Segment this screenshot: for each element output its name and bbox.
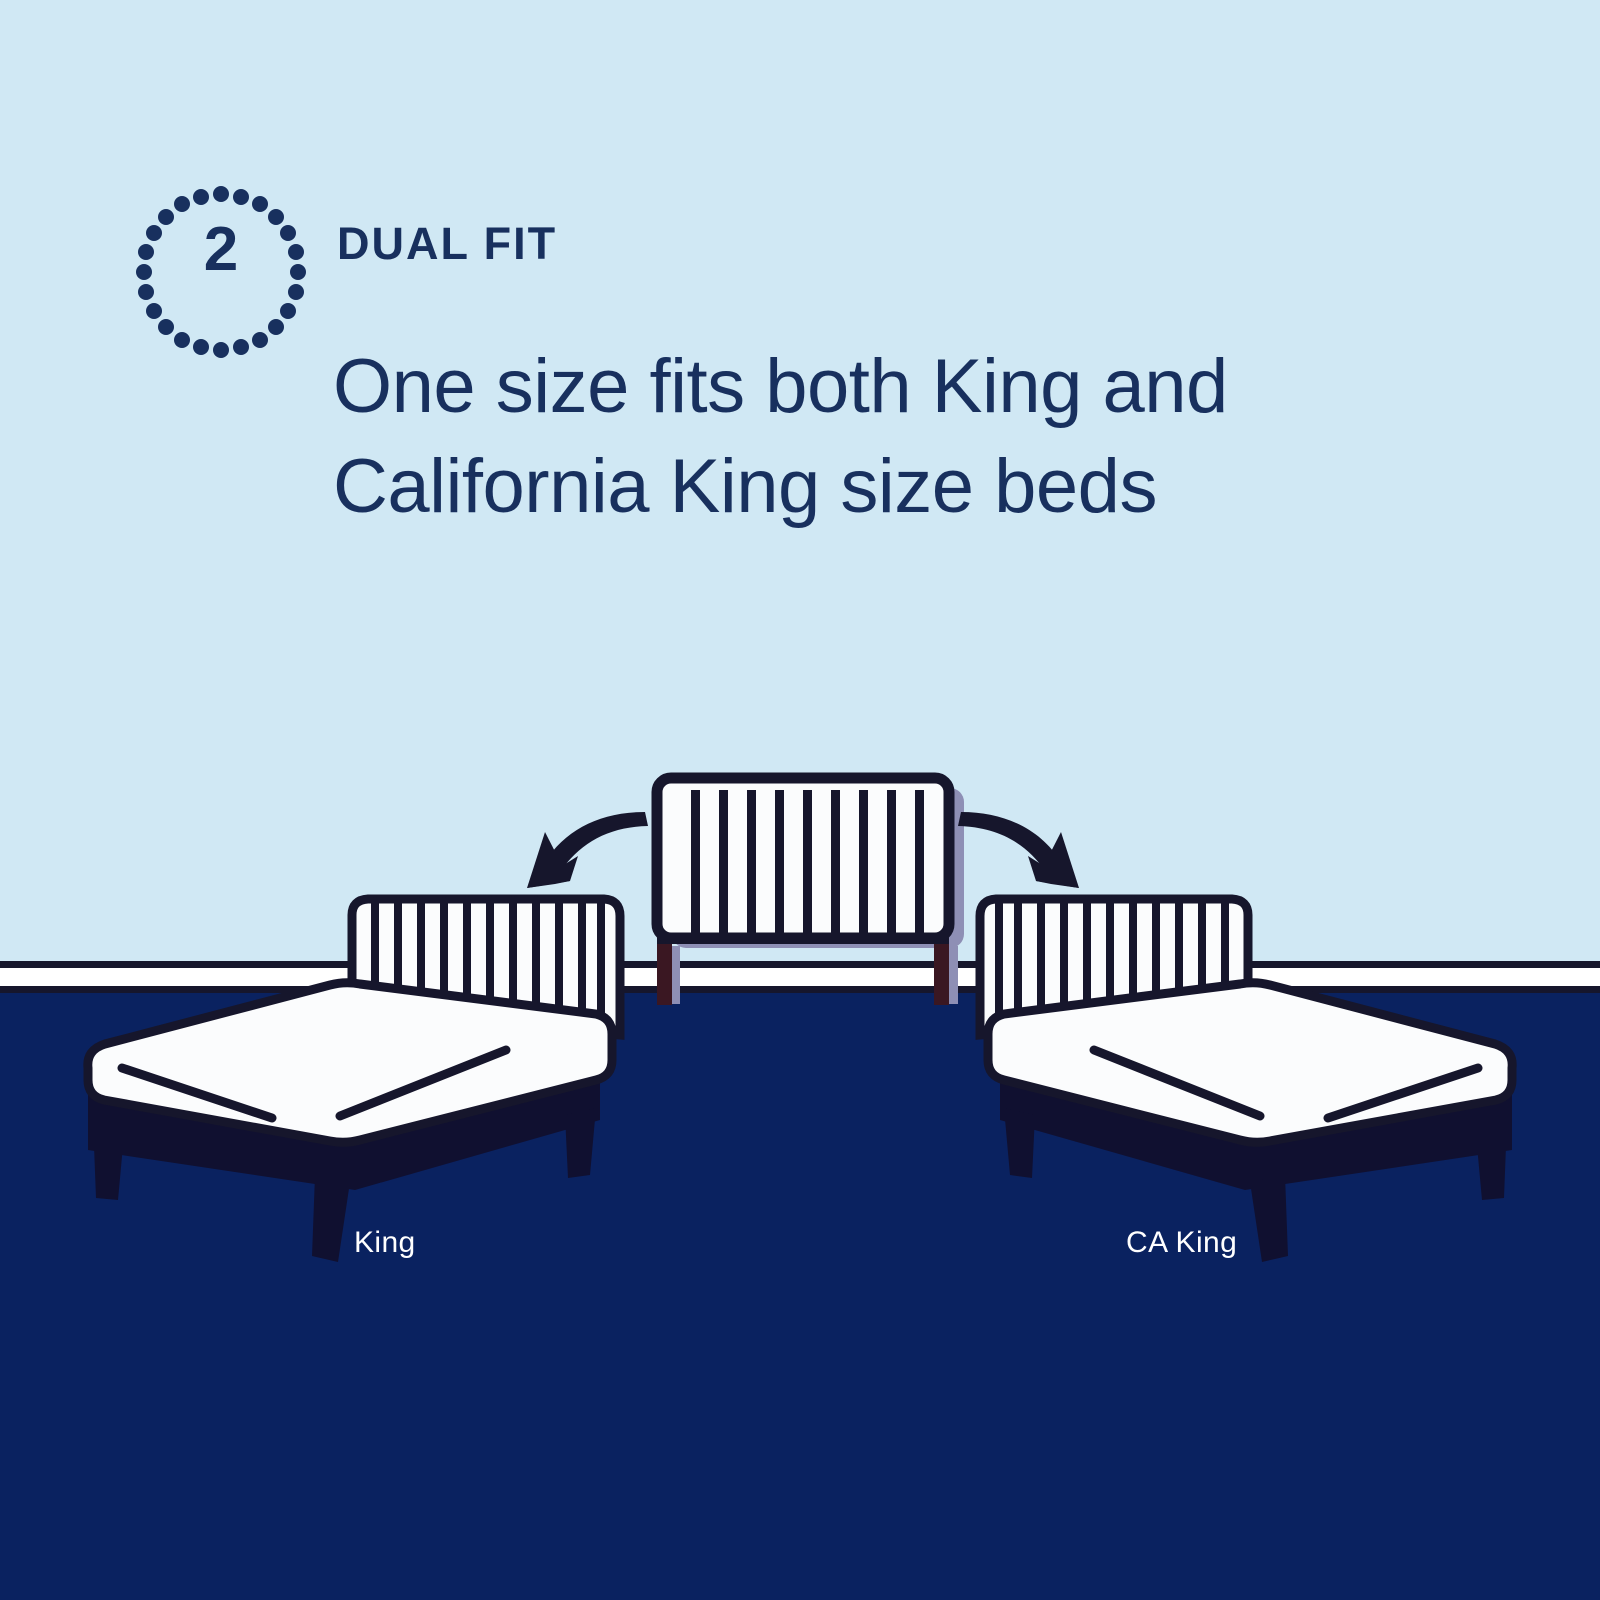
step-number: 2 xyxy=(155,183,287,315)
headline-line-2: California King size beds xyxy=(333,437,1453,537)
bed-label-king: King xyxy=(354,1226,416,1260)
page-title: One size fits both King and California K… xyxy=(333,337,1453,538)
headboard-leg-left xyxy=(657,935,672,1005)
bed-label-ca-king: CA King xyxy=(1126,1226,1237,1260)
headline-line-1: One size fits both King and xyxy=(333,337,1453,437)
headboard-leg-right xyxy=(934,935,949,1005)
baseboard-bottom-line xyxy=(0,986,1600,993)
infographic-panel: 2 DUAL FIT One size fits both King and C… xyxy=(0,0,1600,1600)
headboard-stripes xyxy=(691,790,924,938)
section-eyebrow: DUAL FIT xyxy=(337,218,557,270)
step-badge: 2 xyxy=(155,183,287,315)
baseboard-top-line xyxy=(0,961,1600,968)
